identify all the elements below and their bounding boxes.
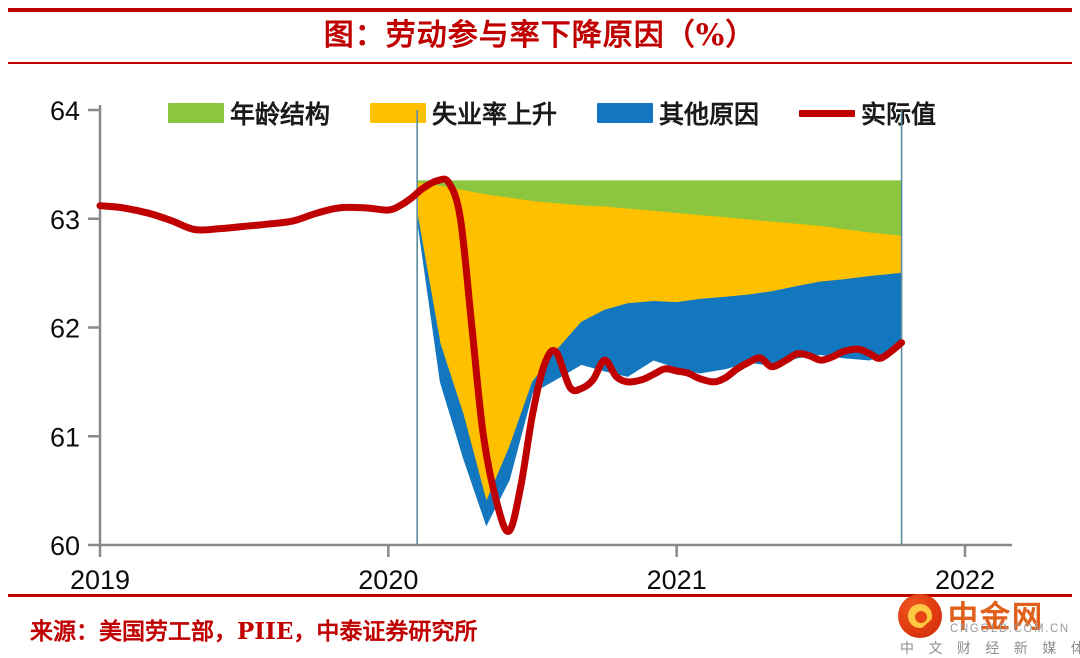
cngold-domain: CNGOLD.COM.CN xyxy=(950,623,1070,635)
x-tick-label: 2019 xyxy=(70,565,130,590)
y-tick-label: 60 xyxy=(50,531,80,561)
y-tick-label: 63 xyxy=(50,205,80,235)
y-tick-label: 62 xyxy=(50,314,80,344)
cngold-tagline: 中 文 财 经 新 媒 体 xyxy=(900,638,1080,658)
x-tick-label: 2020 xyxy=(358,565,418,590)
chart-footer: 来源：美国劳工部，PIIE，中泰证券研究所 中金网 CNGOLD.COM.CN … xyxy=(0,594,1080,658)
cngold-watermark-logo[interactable]: 中金网 CNGOLD.COM.CN 中 文 财 经 新 媒 体 xyxy=(898,592,1070,654)
source-note: 来源：美国劳工部，PIIE，中泰证券研究所 xyxy=(30,612,477,646)
y-axis-tick-labels: 6061626364 xyxy=(50,96,80,561)
y-tick-label: 64 xyxy=(50,96,80,126)
cngold-badge-icon xyxy=(898,594,942,638)
labor-participation-decomposition-chart: 6061626364 2019202020212022 xyxy=(0,60,1080,590)
x-axis-tick-labels: 2019202020212022 xyxy=(70,565,995,590)
header-top-rule xyxy=(8,8,1072,12)
page-title: 图：劳动参与率下降原因（%） xyxy=(0,14,1080,58)
x-tick-label: 2021 xyxy=(647,565,707,590)
chart-plot-area: 6061626364 2019202020212022 xyxy=(0,60,1080,590)
x-tick-label: 2022 xyxy=(935,565,995,590)
chart-header: 图：劳动参与率下降原因（%） xyxy=(0,0,1080,68)
chart-page: 图：劳动参与率下降原因（%） 年龄结构 失业率上升 其他原因 实际值 xyxy=(0,0,1080,658)
y-tick-label: 61 xyxy=(50,422,80,452)
